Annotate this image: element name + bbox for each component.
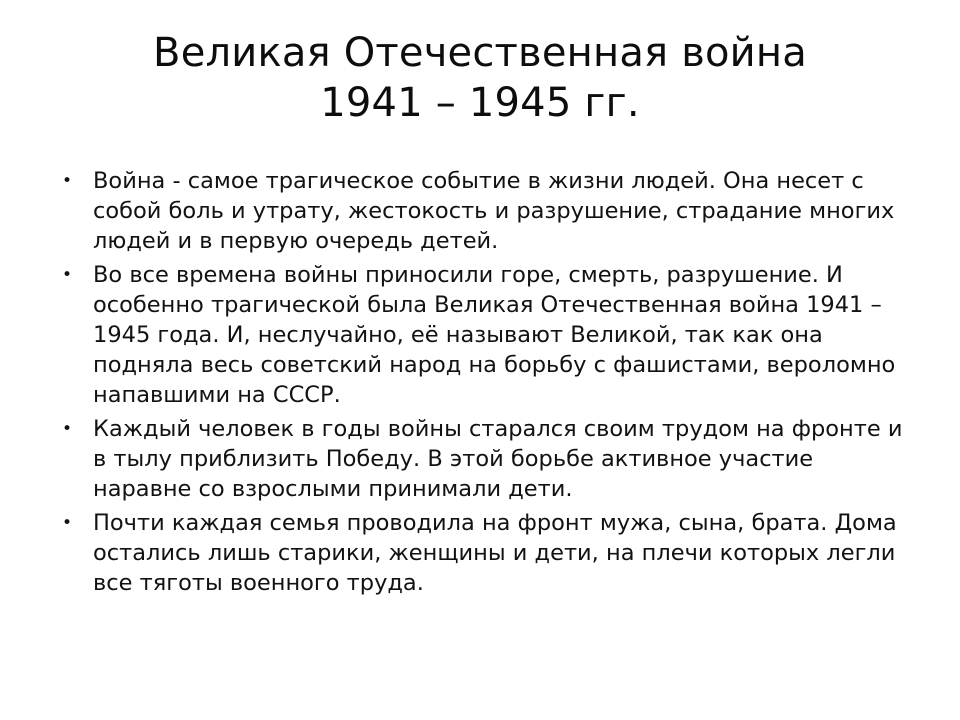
slide-body: • Война - самое трагическое событие в жи… xyxy=(48,166,916,602)
slide-title-line-1: Великая Отечественная война xyxy=(40,28,920,78)
bullet-text: Во все времена войны приносили горе, сме… xyxy=(93,260,916,410)
presentation-slide: Великая Отечественная война 1941 – 1945 … xyxy=(0,0,960,720)
bullet-list: • Война - самое трагическое событие в жи… xyxy=(48,166,916,598)
bullet-item: • Каждый человек в годы войны старался с… xyxy=(48,414,916,504)
slide-title-line-2: 1941 – 1945 гг. xyxy=(40,78,920,128)
slide-title: Великая Отечественная война 1941 – 1945 … xyxy=(40,28,920,128)
bullet-point-icon: • xyxy=(62,414,72,444)
bullet-text: Каждый человек в годы войны старался сво… xyxy=(93,414,916,504)
bullet-item: • Во все времена войны приносили горе, с… xyxy=(48,260,916,410)
bullet-text: Война - самое трагическое событие в жизн… xyxy=(93,166,916,256)
bullet-point-icon: • xyxy=(62,260,72,290)
bullet-item: • Война - самое трагическое событие в жи… xyxy=(48,166,916,256)
bullet-item: • Почти каждая семья проводила на фронт … xyxy=(48,508,916,598)
bullet-point-icon: • xyxy=(62,508,72,538)
bullet-text: Почти каждая семья проводила на фронт му… xyxy=(93,508,916,598)
bullet-point-icon: • xyxy=(62,166,72,196)
